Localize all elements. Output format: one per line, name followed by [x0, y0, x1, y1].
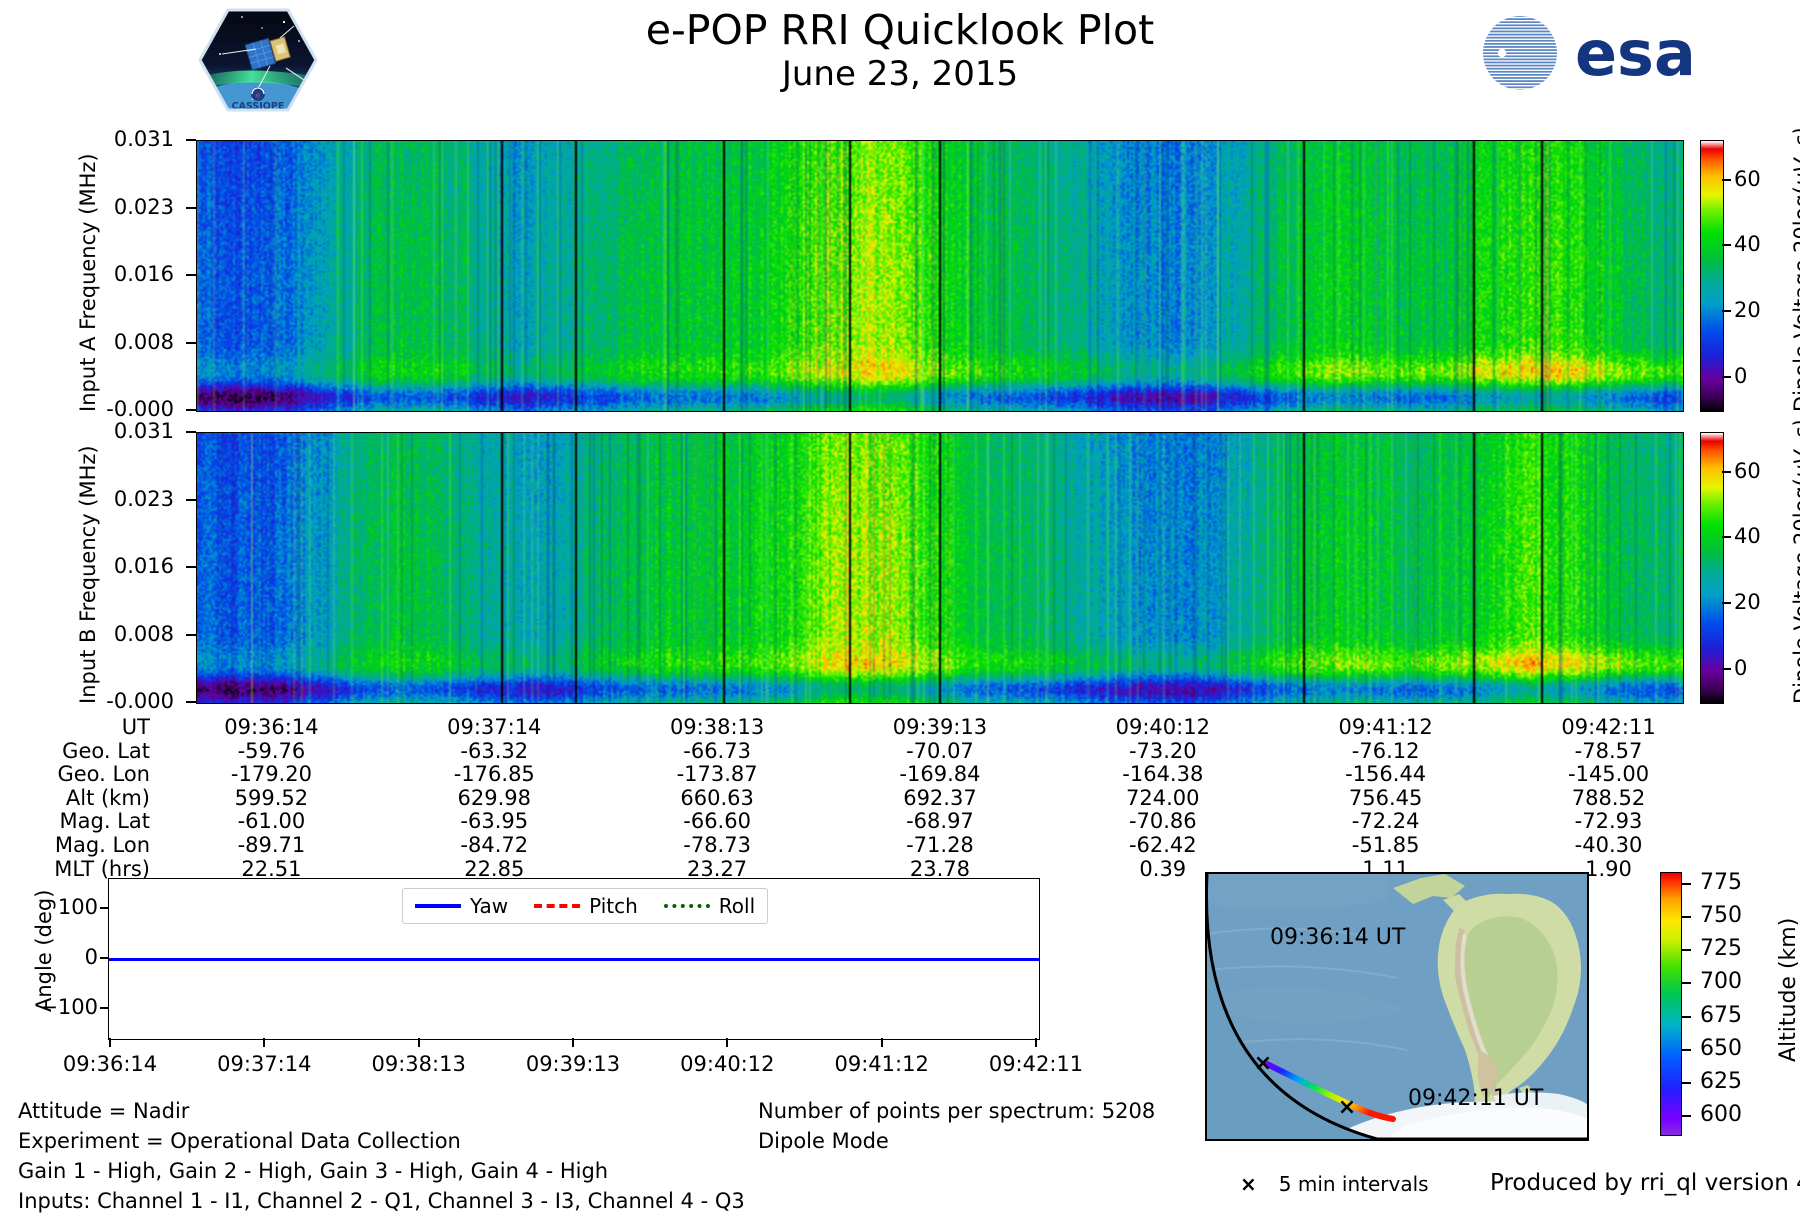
produced-by-label: Produced by rri_ql version 4: [1490, 1170, 1800, 1196]
ephemeris-row-label: UT: [0, 716, 160, 740]
tick-mark: [186, 566, 196, 568]
table-row: Alt (km)599.52629.98660.63692.37724.0075…: [0, 787, 1720, 811]
ephemeris-row-label: Mag. Lat: [0, 810, 160, 834]
ephemeris-cell: -78.73: [606, 834, 829, 858]
tick-mark: [1681, 1115, 1691, 1117]
colorbar-tick-label: 60: [1734, 167, 1761, 191]
ephemeris-cell: -164.38: [1051, 763, 1274, 787]
annotation-left-line: Inputs: Channel 1 - I1, Channel 2 - Q1, …: [18, 1186, 745, 1216]
tick-mark: [1681, 949, 1691, 951]
spectrogram-b-ytick: 0.008: [78, 622, 174, 646]
ephemeris-cell: -156.44: [1274, 763, 1497, 787]
spectrogram-b-ytick: 0.023: [78, 487, 174, 511]
ephemeris-cell: -61.00: [160, 810, 383, 834]
ephemeris-cell: -51.85: [1274, 834, 1497, 858]
tick-mark: [263, 1038, 265, 1047]
legend-label: Pitch: [589, 894, 638, 918]
tick-mark: [186, 342, 196, 344]
altitude-colorbar-tick: 650: [1700, 1036, 1742, 1061]
esa-agency-logo-icon: esa: [1478, 12, 1710, 94]
legend-swatch-icon: [534, 904, 580, 908]
map-interval-legend: × 5 min intervals: [1240, 1172, 1429, 1196]
altitude-colorbar-tick: 775: [1700, 870, 1742, 895]
ephemeris-cell: -73.20: [1051, 740, 1274, 764]
ephemeris-cell: -76.12: [1274, 740, 1497, 764]
ephemeris-cell: -179.20: [160, 763, 383, 787]
legend-swatch-icon: [415, 904, 461, 908]
ephemeris-cell: -72.93: [1497, 810, 1720, 834]
tick-mark: [186, 207, 196, 209]
attitude-xtick: 09:38:13: [371, 1052, 465, 1076]
annotation-left-line: Attitude = Nadir: [18, 1096, 745, 1126]
ephemeris-cell: -62.42: [1051, 834, 1274, 858]
ephemeris-cell: 692.37: [829, 787, 1052, 811]
spectrogram-panel-input-b[interactable]: [196, 432, 1684, 704]
ephemeris-cell: -66.73: [606, 740, 829, 764]
colorbar-tick-label: 40: [1734, 524, 1761, 548]
track-end-time-label: 09:42:11 UT: [1408, 1086, 1543, 1111]
ephemeris-cell: -89.71: [160, 834, 383, 858]
tick-mark: [100, 957, 109, 959]
ephemeris-cell: 09:40:12: [1051, 716, 1274, 740]
attitude-traces: [109, 958, 1039, 961]
legend-item-roll[interactable]: Roll: [664, 894, 755, 918]
ephemeris-cell: -84.72: [383, 834, 606, 858]
ephemeris-row-label: Geo. Lon: [0, 763, 160, 787]
colorbar-tick-label: 60: [1734, 459, 1761, 483]
colorbar-b-label: Dipole Voltage 20log(μVBs): [1790, 419, 1800, 704]
colorbar-tick-label: 0: [1734, 656, 1747, 680]
tick-mark: [1722, 668, 1731, 670]
esa-logo-text: esa: [1575, 17, 1696, 90]
tick-mark: [1722, 310, 1731, 312]
ephemeris-cell: 599.52: [160, 787, 383, 811]
ephemeris-cell: -59.76: [160, 740, 383, 764]
spectrogram-a-ytick: 0.031: [78, 127, 174, 151]
tick-mark: [1722, 376, 1731, 378]
tick-mark: [881, 1038, 883, 1047]
colorbar-input-a[interactable]: [1700, 140, 1724, 412]
altitude-colorbar-tick: 725: [1700, 936, 1742, 961]
ephemeris-cell: -173.87: [606, 763, 829, 787]
ephemeris-row-label: Alt (km): [0, 787, 160, 811]
tick-mark: [572, 1038, 574, 1047]
ephemeris-row-label: Mag. Lon: [0, 834, 160, 858]
tick-mark: [1722, 602, 1731, 604]
spectrogram-b-ytick: 0.016: [78, 554, 174, 578]
tick-mark: [1681, 1016, 1691, 1018]
colorbar-tick-label: 0: [1734, 364, 1747, 388]
ephemeris-cell: -63.32: [383, 740, 606, 764]
attitude-xtick: 09:40:12: [680, 1052, 774, 1076]
ephemeris-cell: -63.95: [383, 810, 606, 834]
altitude-colorbar-label: Altitude (km): [1776, 918, 1800, 1062]
tick-mark: [1722, 471, 1731, 473]
annotations-middle: Number of points per spectrum: 5208Dipol…: [758, 1096, 1155, 1156]
colorbar-tick-label: 20: [1734, 590, 1761, 614]
attitude-legend[interactable]: YawPitchRoll: [402, 888, 768, 924]
ephemeris-cell: 09:41:12: [1274, 716, 1497, 740]
ephemeris-cell: 660.63: [606, 787, 829, 811]
attitude-xaxis: 09:36:1409:37:1409:38:1309:39:1309:40:12…: [0, 1044, 1100, 1074]
altitude-colorbar-tick: 700: [1700, 969, 1742, 994]
table-row: Geo. Lon-179.20-176.85-173.87-169.84-164…: [0, 763, 1720, 787]
attitude-xtick: 09:37:14: [217, 1052, 311, 1076]
annotation-middle-line: Number of points per spectrum: 5208: [758, 1096, 1155, 1126]
tick-mark: [726, 1038, 728, 1047]
tick-mark: [1681, 1049, 1691, 1051]
spectrogram-a-ytick: 0.008: [78, 330, 174, 354]
ephemeris-cell: -145.00: [1497, 763, 1720, 787]
ephemeris-table: UT09:36:1409:37:1409:38:1309:39:1309:40:…: [0, 716, 1720, 881]
attitude-trace-solid: [109, 958, 1039, 960]
spectrogram-a-ytick: -0.000: [78, 397, 174, 421]
table-row: Mag. Lon-89.71-84.72-78.73-71.28-62.42-5…: [0, 834, 1720, 858]
spectrogram-b-ytick: -0.000: [78, 689, 174, 713]
svg-text:e: e: [256, 92, 260, 100]
spectrogram-panel-input-a[interactable]: [196, 140, 1684, 412]
ephemeris-cell: -72.24: [1274, 810, 1497, 834]
attitude-ytick: 100: [0, 895, 98, 919]
spectrogram-b-ytick: 0.031: [78, 419, 174, 443]
ephemeris-cell: -68.97: [829, 810, 1052, 834]
tick-mark: [186, 139, 196, 141]
tick-mark: [418, 1038, 420, 1047]
annotations-left: Attitude = NadirExperiment = Operational…: [18, 1096, 745, 1216]
spectrogram-a-ytick: 0.016: [78, 262, 174, 286]
altitude-colorbar-tick: 675: [1700, 1003, 1742, 1028]
altitude-colorbar-tick: 625: [1700, 1069, 1742, 1094]
tick-mark: [186, 634, 196, 636]
ephemeris-cell: -70.86: [1051, 810, 1274, 834]
tick-mark: [186, 274, 196, 276]
tick-mark: [1035, 1038, 1037, 1047]
tick-mark: [1681, 916, 1691, 918]
tick-mark: [1681, 883, 1691, 885]
tick-mark: [186, 701, 196, 703]
table-row: Geo. Lat-59.76-63.32-66.73-70.07-73.20-7…: [0, 740, 1720, 764]
ephemeris-cell: 724.00: [1051, 787, 1274, 811]
tick-mark: [1681, 1082, 1691, 1084]
colorbar-a-label: Dipole Voltage 20log(μVBs): [1790, 127, 1800, 412]
track-start-marker-icon: ×: [1254, 1051, 1272, 1076]
ephemeris-cell: 09:37:14: [383, 716, 606, 740]
tick-mark: [109, 1038, 111, 1047]
colorbar-tick-label: 20: [1734, 298, 1761, 322]
legend-label: Yaw: [470, 894, 508, 918]
annotation-middle-line: Dipole Mode: [758, 1126, 1155, 1156]
ephemeris-cell: -176.85: [383, 763, 606, 787]
ephemeris-cell: 756.45: [1274, 787, 1497, 811]
altitude-colorbar-tick: 750: [1700, 903, 1742, 928]
colorbar-tick-label: 40: [1734, 232, 1761, 256]
tick-mark: [1722, 179, 1731, 181]
ephemeris-cell: -70.07: [829, 740, 1052, 764]
interval-legend-label: 5 min intervals: [1279, 1172, 1429, 1196]
ephemeris-cell: -169.84: [829, 763, 1052, 787]
attitude-xtick: 09:39:13: [526, 1052, 620, 1076]
attitude-ytick: 0: [0, 945, 98, 969]
ephemeris-cell: -40.30: [1497, 834, 1720, 858]
tick-mark: [100, 907, 109, 909]
annotation-left-line: Gain 1 - High, Gain 2 - High, Gain 3 - H…: [18, 1156, 745, 1186]
cassiope-mission-logo-icon: e CASSIOPE: [198, 8, 318, 112]
legend-item-yaw[interactable]: Yaw: [415, 894, 508, 918]
ephemeris-row-label: Geo. Lat: [0, 740, 160, 764]
tick-mark: [186, 499, 196, 501]
attitude-ytick: −100: [0, 995, 98, 1019]
ephemeris-cell: 09:36:14: [160, 716, 383, 740]
track-start-time-label: 09:36:14 UT: [1270, 925, 1405, 950]
colorbar-input-b[interactable]: [1700, 432, 1724, 704]
ephemeris-cell: -66.60: [606, 810, 829, 834]
ephemeris-cell: -78.57: [1497, 740, 1720, 764]
ephemeris-cell: 09:38:13: [606, 716, 829, 740]
tick-mark: [186, 431, 196, 433]
altitude-colorbar[interactable]: [1660, 872, 1682, 1136]
tick-mark: [1722, 536, 1731, 538]
table-row: Mag. Lat-61.00-63.95-66.60-68.97-70.86-7…: [0, 810, 1720, 834]
altitude-colorbar-tick: 600: [1700, 1102, 1742, 1127]
legend-label: Roll: [719, 894, 755, 918]
ephemeris-cell: 629.98: [383, 787, 606, 811]
ephemeris-cell: 09:39:13: [829, 716, 1052, 740]
interval-marker-icon: ×: [1240, 1172, 1257, 1196]
ephemeris-cell: 788.52: [1497, 787, 1720, 811]
ephemeris-cell: -71.28: [829, 834, 1052, 858]
annotation-left-line: Experiment = Operational Data Collection: [18, 1126, 745, 1156]
tick-mark: [186, 409, 196, 411]
attitude-xtick: 09:41:12: [834, 1052, 928, 1076]
tick-mark: [1722, 244, 1731, 246]
attitude-xtick: 09:42:11: [989, 1052, 1083, 1076]
ephemeris-cell: 09:42:11: [1497, 716, 1720, 740]
tick-mark: [1681, 982, 1691, 984]
track-end-marker-icon: ×: [1338, 1095, 1356, 1120]
spectrogram-a-ytick: 0.023: [78, 195, 174, 219]
legend-swatch-icon: [664, 904, 710, 908]
table-row: UT09:36:1409:37:1409:38:1309:39:1309:40:…: [0, 716, 1720, 740]
tick-mark: [100, 1007, 109, 1009]
legend-item-pitch[interactable]: Pitch: [534, 894, 638, 918]
attitude-xtick: 09:36:14: [63, 1052, 157, 1076]
